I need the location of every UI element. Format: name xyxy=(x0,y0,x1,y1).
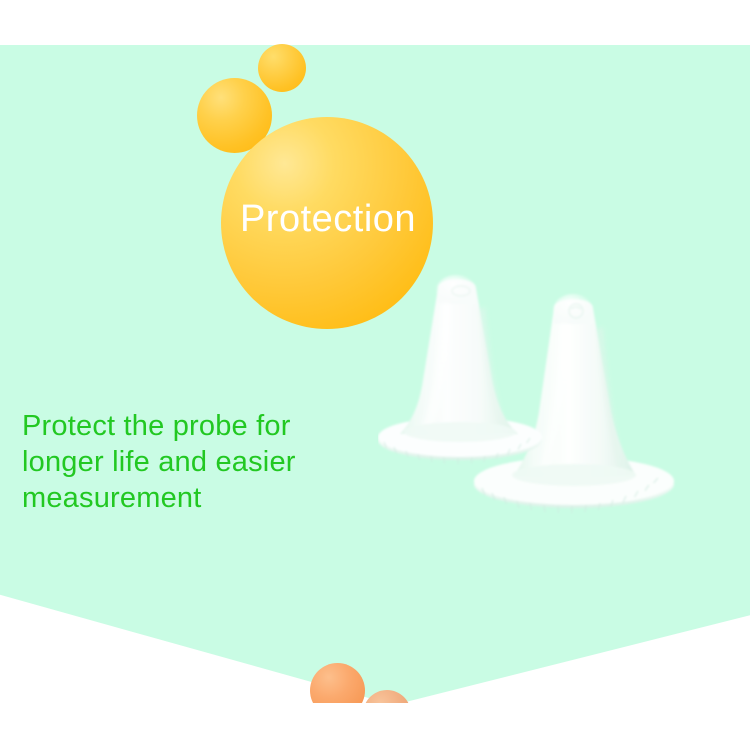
body-copy-line-2: longer life and easier xyxy=(22,444,352,480)
headline-protection: Protection xyxy=(222,196,434,242)
body-copy: Protect the probe for longer life and ea… xyxy=(22,408,352,516)
product-feature-banner: Protection Protect the probe for longer … xyxy=(0,0,750,750)
body-copy-line-1: Protect the probe for xyxy=(22,408,352,444)
product-image-probe-covers xyxy=(378,262,678,522)
decorative-bubble-small xyxy=(258,44,306,92)
body-copy-line-3: measurement xyxy=(22,480,352,516)
bottom-white-band xyxy=(0,703,750,750)
